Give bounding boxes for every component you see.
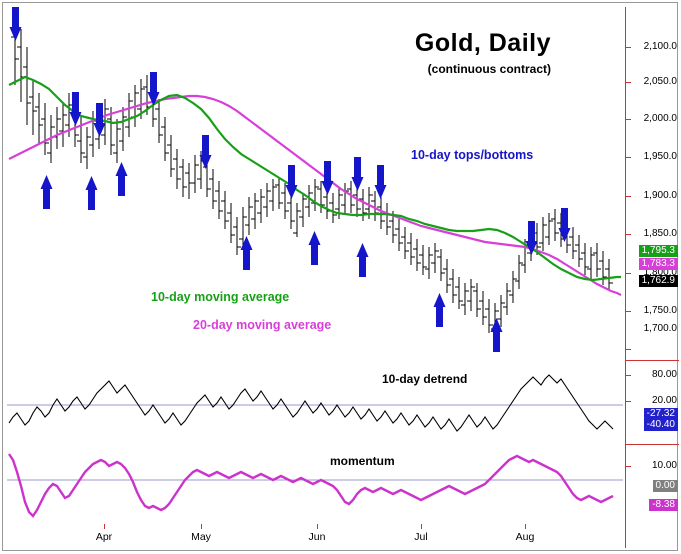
scale-tick — [626, 375, 631, 376]
x-label-jun: Jun — [309, 531, 326, 543]
scale-tick — [626, 234, 631, 235]
scale-tick — [626, 196, 631, 197]
scale-label-2050: 2,050.0 — [644, 76, 677, 87]
detrend-series-svg — [7, 363, 623, 443]
arrow-up-icon — [434, 293, 446, 327]
momentum-panel: momentum — [7, 446, 623, 524]
arrow-up-icon — [309, 231, 321, 265]
panel-divider — [625, 360, 679, 361]
x-label-aug: Aug — [516, 531, 535, 543]
scale-tick — [626, 466, 631, 467]
arrow-down-icon — [286, 165, 298, 199]
scale-label-2100: 2,100.0 — [644, 41, 677, 52]
panel-divider — [625, 444, 679, 445]
scale-label-detrend-80: 80.00 — [652, 369, 677, 380]
value-box-ma20: 1,783.3 — [639, 258, 678, 270]
value-box-last: 1,762.9 — [639, 275, 678, 287]
arrow-up-icon — [491, 318, 503, 352]
scale-label-1700: 1,700.0 — [644, 323, 677, 334]
arrow-down-icon — [352, 157, 364, 191]
x-label-may: May — [191, 531, 211, 543]
annotation-detrend: 10-day detrend — [382, 372, 467, 386]
scale-tick — [626, 349, 631, 350]
x-tick — [104, 524, 105, 529]
value-box-ma10: 1,795.3 — [639, 245, 678, 257]
x-tick — [525, 524, 526, 529]
detrend-line — [9, 375, 613, 431]
annotation-ma10: 10-day moving average — [151, 290, 289, 304]
detrend-scale-axis: 80.00 20.00 -27.32 -40.40 — [625, 363, 679, 443]
arrow-down-icon — [70, 92, 82, 126]
momentum-scale-axis: 10.00 0.00 -8.38 — [625, 446, 679, 524]
scale-tick — [626, 47, 631, 48]
chart-subtitle: (continuous contract) — [428, 62, 551, 76]
price-panel: Gold, Daily (continuous contract) 10-day… — [7, 7, 623, 359]
arrow-down-icon — [322, 161, 334, 195]
scale-tick — [626, 157, 631, 158]
arrow-down-icon — [10, 7, 22, 41]
scale-label-1950: 1,950.0 — [644, 151, 677, 162]
arrow-up-icon — [241, 236, 253, 270]
annotation-ma20: 20-day moving average — [193, 318, 331, 332]
x-tick — [201, 524, 202, 529]
x-label-jul: Jul — [414, 531, 427, 543]
chart-frame: Gold, Daily (continuous contract) 10-day… — [2, 2, 678, 551]
scale-tick — [626, 82, 631, 83]
x-tick — [317, 524, 318, 529]
annotation-tops-bottoms: 10-day tops/bottoms — [411, 148, 533, 162]
annotation-momentum: momentum — [330, 454, 395, 468]
arrow-up-icon — [116, 162, 128, 196]
arrow-down-icon — [526, 221, 538, 255]
scale-label-momentum-10: 10.00 — [652, 460, 677, 471]
x-tick — [421, 524, 422, 529]
tops-bottoms-arrows — [7, 7, 623, 359]
arrow-up-icon — [41, 175, 53, 209]
arrow-down-icon — [200, 135, 212, 169]
scale-label-detrend-20: 20.00 — [652, 395, 677, 406]
scale-label-1900: 1,900.0 — [644, 190, 677, 201]
scale-tick — [626, 273, 631, 274]
scale-label-2000: 2,000.0 — [644, 113, 677, 124]
scale-tick — [626, 311, 631, 312]
scale-tick — [626, 119, 631, 120]
scale-label-1850: 1,850.0 — [644, 228, 677, 239]
value-box-momentum: -8.38 — [649, 499, 678, 511]
detrend-panel: 10-day detrend — [7, 363, 623, 443]
scale-label-1750: 1,750.0 — [644, 305, 677, 316]
value-box-momentum-zero: 0.00 — [653, 480, 678, 492]
scale-tick — [626, 401, 631, 402]
arrow-down-icon — [559, 208, 571, 242]
arrow-up-icon — [86, 176, 98, 210]
momentum-series-svg — [7, 446, 623, 524]
arrow-down-icon — [375, 165, 387, 199]
arrow-up-icon — [357, 243, 369, 277]
x-axis: Apr May Jun Jul Aug — [7, 524, 623, 548]
arrow-down-icon — [94, 103, 106, 137]
x-label-apr: Apr — [96, 531, 112, 543]
momentum-line — [9, 454, 613, 516]
page-title: Gold, Daily — [415, 29, 551, 58]
chart-screenshot: Gold, Daily (continuous contract) 10-day… — [0, 0, 681, 554]
value-box-detrend-prior: -40.40 — [644, 419, 678, 431]
arrow-down-icon — [148, 72, 160, 106]
